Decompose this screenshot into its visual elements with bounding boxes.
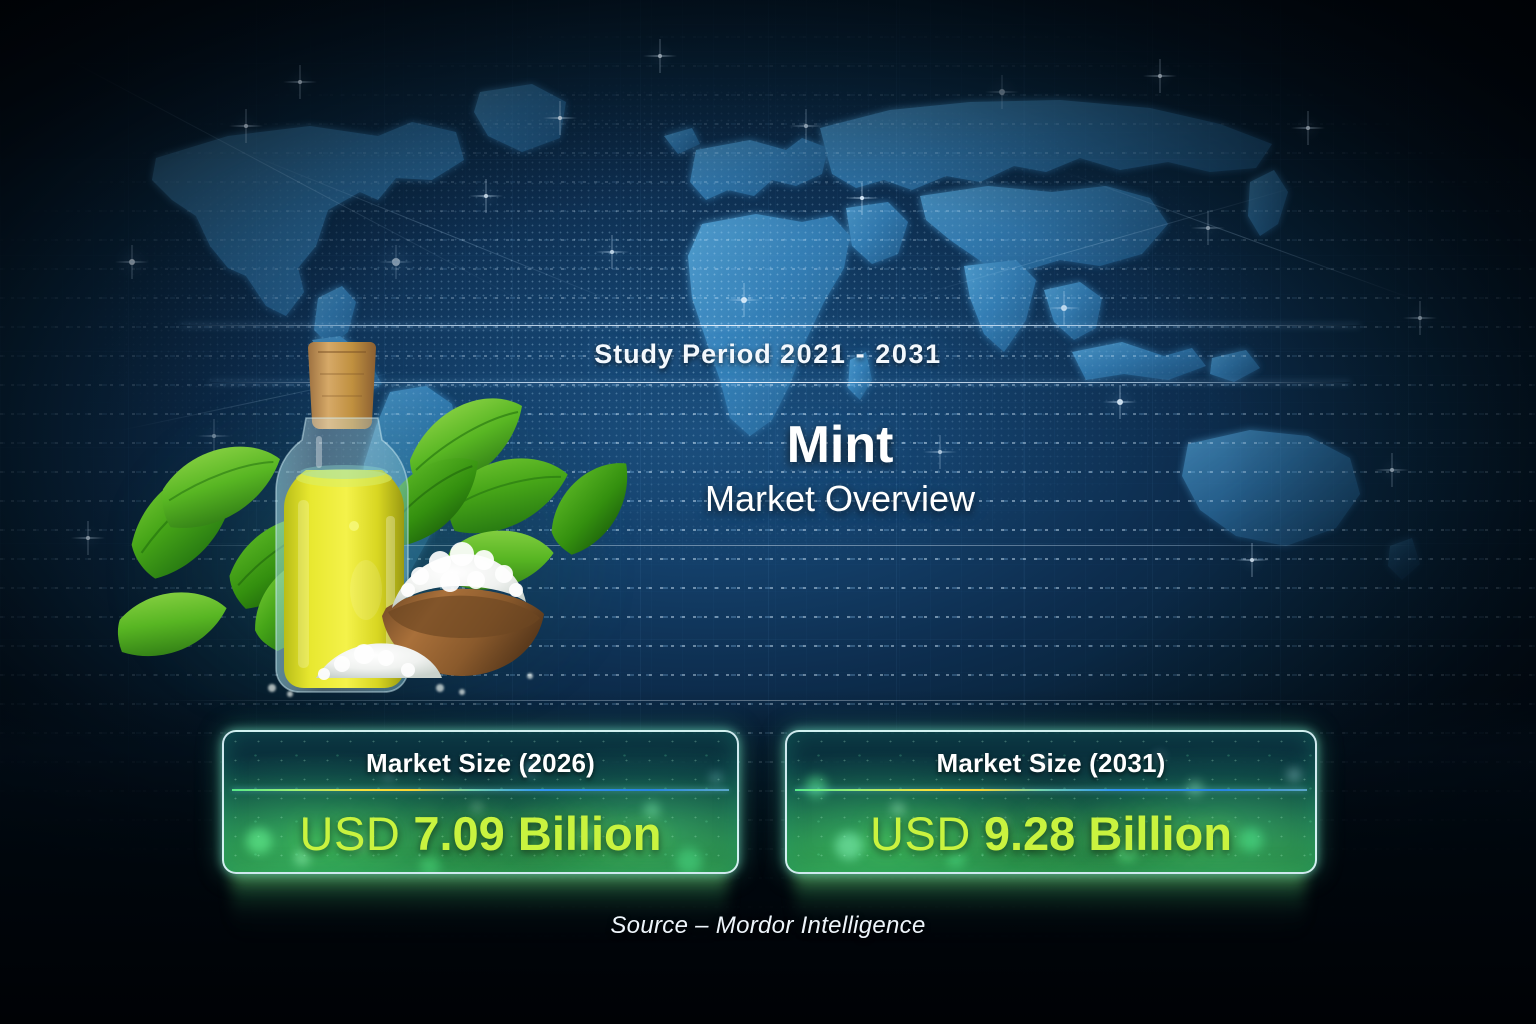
card-bokeh-dot — [1187, 780, 1203, 796]
card-bokeh-dot — [805, 776, 827, 798]
stat-unit: Billion — [1088, 807, 1232, 860]
stat-unit: Billion — [518, 807, 662, 860]
page-title: Mint — [590, 418, 1090, 473]
stat-value: USD 7.09 Billion — [224, 804, 737, 864]
infographic-canvas: Study Period 2021 - 2031 Mint Market Ove… — [0, 0, 1536, 1024]
stat-label: Market Size (2031) — [787, 748, 1315, 779]
study-period-label: Study Period — [594, 339, 771, 369]
stat-currency: USD — [870, 807, 971, 860]
study-period-value: 2021 - 2031 — [780, 339, 942, 369]
stat-divider — [795, 789, 1307, 791]
stat-value: USD 9.28 Billion — [787, 804, 1315, 864]
mint-product-image — [110, 340, 630, 710]
study-period: Study Period 2021 - 2031 — [0, 339, 1536, 370]
stat-number: 7.09 — [413, 807, 504, 860]
page-subtitle: Market Overview — [590, 479, 1090, 519]
stat-divider — [232, 789, 729, 791]
stat-currency: USD — [300, 807, 401, 860]
stat-label: Market Size (2026) — [224, 748, 737, 779]
stat-card-2031[interactable]: Market Size (2031) USD 9.28 Billion — [785, 730, 1317, 874]
title-block: Mint Market Overview — [590, 418, 1090, 518]
source-attribution: Source – Mordor Intelligence — [0, 912, 1536, 940]
stat-card-2026[interactable]: Market Size (2026) USD 7.09 Billion — [222, 730, 739, 874]
stat-number: 9.28 — [984, 807, 1075, 860]
